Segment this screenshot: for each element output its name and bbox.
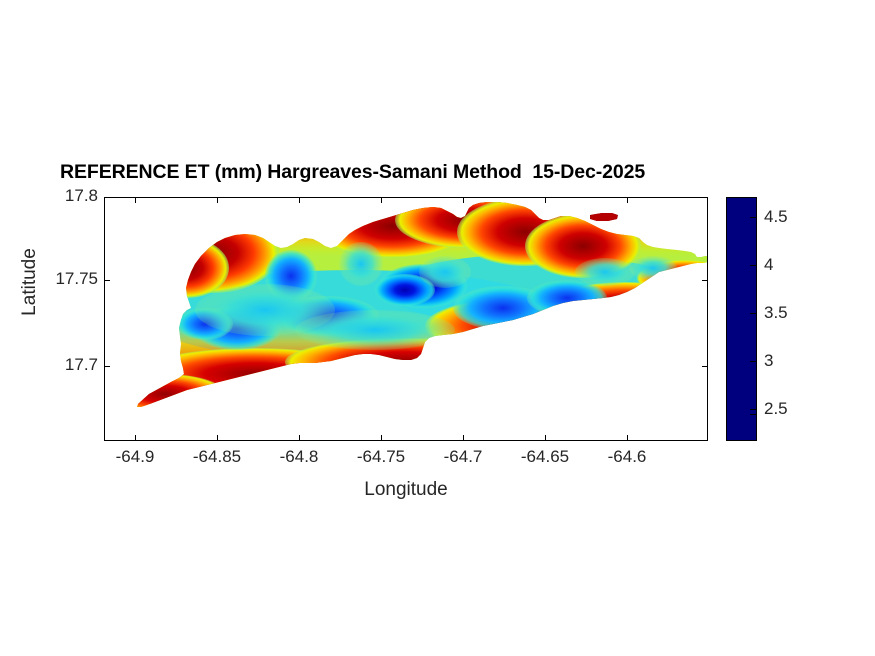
xtick-label: -64.8	[280, 447, 319, 467]
xtick-mark	[381, 435, 382, 441]
colorbar-label: 2.5	[764, 399, 788, 419]
ytick-mark	[702, 280, 708, 281]
xtick-label: -64.6	[608, 447, 647, 467]
colorbar-label: 4	[764, 255, 773, 275]
colorbar-tick	[750, 313, 756, 314]
xtick-label: -64.65	[521, 447, 569, 467]
colorbar-gradient	[726, 197, 757, 441]
page-title: REFERENCE ET (mm) Hargreaves-Samani Meth…	[60, 161, 645, 184]
figure-canvas: REFERENCE ET (mm) Hargreaves-Samani Meth…	[0, 0, 875, 656]
ytick-label: 17.7	[65, 355, 98, 375]
xtick-mark	[299, 435, 300, 441]
xtick-mark	[381, 197, 382, 203]
xtick-label: -64.75	[357, 447, 405, 467]
y-axis-label: Latitude	[19, 222, 41, 342]
xtick-mark	[545, 197, 546, 203]
xtick-mark	[135, 435, 136, 441]
xtick-mark	[627, 435, 628, 441]
ytick-label: 17.75	[55, 269, 98, 289]
xtick-mark	[217, 435, 218, 441]
ytick-mark	[104, 280, 110, 281]
ytick-mark	[702, 366, 708, 367]
colorbar-tick	[750, 361, 756, 362]
xtick-mark	[217, 197, 218, 203]
colorbar-tick	[750, 409, 756, 410]
ytick-label-column: 17.8 17.75 17.7	[0, 0, 98, 656]
map-axes	[104, 197, 708, 441]
xtick-label: -64.85	[193, 447, 241, 467]
et-field-main-island	[105, 198, 708, 441]
reference-et-heatmap	[105, 198, 708, 441]
xtick-mark	[627, 197, 628, 203]
xtick-mark	[463, 197, 464, 203]
xtick-mark	[545, 435, 546, 441]
xtick-label: -64.9	[116, 447, 155, 467]
colorbar-label: 3.5	[764, 303, 788, 323]
colorbar-tick	[750, 265, 756, 266]
xtick-mark	[463, 435, 464, 441]
colorbar-label: 3	[764, 351, 773, 371]
colorbar	[726, 197, 757, 441]
xtick-mark	[135, 197, 136, 203]
xtick-label: -64.7	[444, 447, 483, 467]
xtick-mark	[299, 197, 300, 203]
x-axis-label: Longitude	[104, 479, 708, 501]
colorbar-label: 4.5	[764, 207, 788, 227]
colorbar-tick	[750, 217, 756, 218]
ytick-label: 17.8	[65, 186, 98, 206]
ytick-mark	[104, 366, 110, 367]
